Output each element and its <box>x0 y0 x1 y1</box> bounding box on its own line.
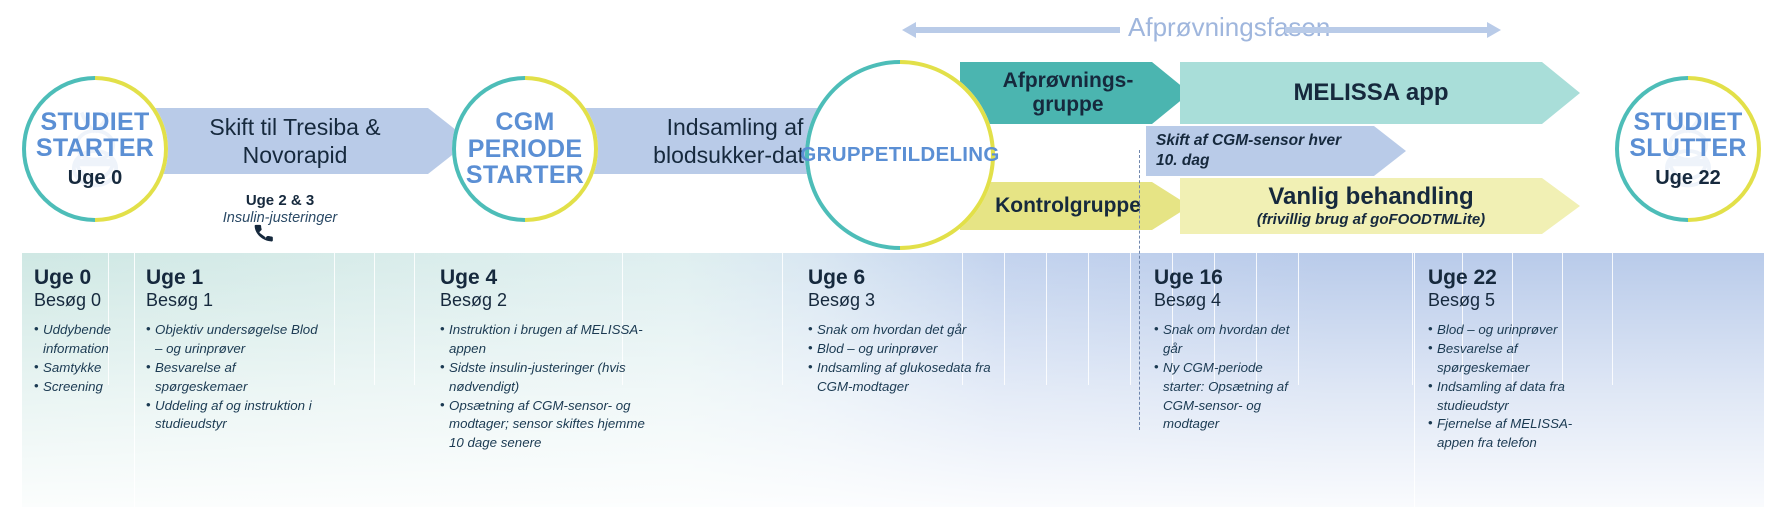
list-item: Screening <box>34 378 124 397</box>
arrow-cgm-sensor-label: Skift af CGM-sensor hver 10. dag <box>1146 131 1346 171</box>
list-item: Snak om hvordan det går <box>808 321 1013 340</box>
timeline-item-list: Blod – og urinprøver Besvarelse af spørg… <box>1428 321 1593 453</box>
timeline-column-uge22: Uge 22 Besøg 5 Blod – og urinprøver Besv… <box>1414 253 1614 507</box>
timeline-column-uge16: Uge 16 Besøg 4 Snak om hvordan det går N… <box>1140 253 1310 507</box>
milestone-gruppetildeling: GRUPPETILDELING <box>805 60 995 250</box>
list-item: Ny CGM-periode starter: Opsætning af CGM… <box>1154 359 1294 435</box>
list-item: Snak om hvordan det går <box>1154 321 1294 359</box>
timeline-item-list: Objektiv undersøgelse Blod – og urinprøv… <box>146 321 326 434</box>
timeline-item-list: Uddybende information Samtykke Screening <box>34 321 124 397</box>
timeline-visit-label: Besøg 2 <box>440 290 648 312</box>
timeline-week-label: Uge 4 <box>440 266 648 290</box>
timeline-tick <box>414 253 415 385</box>
timeline-column-divider <box>134 253 135 507</box>
list-item: Besvarelse af spørgeskemaer <box>1428 340 1593 378</box>
arrow-vanlig-sub: (frivillig brug af goFOODTMLite) <box>1257 211 1485 228</box>
arrow-melissa-label: MELISSA app <box>1293 79 1448 107</box>
list-item: Uddeling af og instruktion i studieudsty… <box>146 397 326 435</box>
milestone-title-line: SLUTTER <box>1629 135 1746 162</box>
list-item: Blod – og urinprøver <box>808 340 1013 359</box>
timeline-column-uge6: Uge 6 Besøg 3 Snak om hvordan det går Bl… <box>784 253 1024 507</box>
list-item: Objektiv undersøgelse Blod – og urinprøv… <box>146 321 326 359</box>
milestone-title-line: GRUPPETILDELING <box>800 144 999 166</box>
timeline-tick <box>1046 253 1047 385</box>
arrow-kontrolgruppe: Kontrolgruppe <box>960 182 1190 230</box>
arrow-afprovningsgruppe-label: Afprøvnings-gruppe <box>978 69 1158 118</box>
list-item: Indsamling af data fra studieudstyr <box>1428 378 1593 416</box>
arrow-skift-label: Skift til Tresiba & Novorapid <box>170 113 420 169</box>
milestone-title: STUDIET SLUTTER <box>1629 109 1746 162</box>
list-item: Instruktion i brugen af MELISSA-appen <box>440 321 655 359</box>
arrow-vanlig-text-group: Vanlig behandling (frivillig brug af goF… <box>1257 184 1485 228</box>
timeline-week-label: Uge 22 <box>1428 266 1606 290</box>
milestone-subtitle: Uge 22 <box>1655 167 1721 190</box>
timeline-tick <box>1130 253 1131 385</box>
timeline-visit-label: Besøg 5 <box>1428 290 1606 312</box>
note-insulin-justeringer: Uge 2 & 3 Insulin-justeringer <box>195 192 365 226</box>
list-item: Uddybende information <box>34 321 124 359</box>
timeline-item-list: Instruktion i brugen af MELISSA-appen Si… <box>440 321 655 453</box>
timeline-week-label: Uge 1 <box>146 266 326 290</box>
milestone-title-line: STARTER <box>36 135 154 162</box>
list-item: Samtykke <box>34 359 124 378</box>
arrow-cgm-sensor-skift: Skift af CGM-sensor hver 10. dag <box>1146 126 1406 176</box>
list-item: Besvarelse af spørgeskemaer <box>146 359 326 397</box>
milestone-title: GRUPPETILDELING <box>800 144 999 166</box>
milestone-title: CGM PERIODE STARTER <box>466 109 584 189</box>
timeline-tick <box>1088 253 1089 385</box>
phase-line-right <box>1285 27 1490 33</box>
timeline-column-uge0: Uge 0 Besøg 0 Uddybende information Samt… <box>22 253 132 507</box>
phone-icon <box>253 222 273 249</box>
list-item: Opsætning af CGM-sensor- og modtager; se… <box>440 397 655 454</box>
timeline-week-label: Uge 6 <box>808 266 1016 290</box>
arrow-melissa-app: MELISSA app <box>1180 62 1580 124</box>
timeline-week-label: Uge 0 <box>34 266 124 290</box>
timeline-column-uge1: Uge 1 Besøg 1 Objektiv undersøgelse Blod… <box>134 253 334 507</box>
timeline-visit-label: Besøg 1 <box>146 290 326 312</box>
milestone-title: STUDIET STARTER <box>36 109 154 162</box>
list-item: Indsamling af glukosedata fra CGM-modtag… <box>808 359 1013 397</box>
note-weeks: Uge 2 & 3 <box>195 192 365 209</box>
study-timeline: Uge 0 Besøg 0 Uddybende information Samt… <box>22 253 1764 507</box>
timeline-tick <box>374 253 375 385</box>
milestone-cgm-periode-starter: CGM PERIODE STARTER <box>452 76 598 222</box>
timeline-tick <box>334 253 335 385</box>
timeline-column-divider <box>1414 253 1415 507</box>
timeline-visit-label: Besøg 3 <box>808 290 1016 312</box>
group-split-divider <box>1139 150 1140 430</box>
list-item: Blod – og urinprøver <box>1428 321 1593 340</box>
milestone-subtitle: Uge 0 <box>68 167 122 190</box>
arrow-vanlig-behandling: Vanlig behandling (frivillig brug af goF… <box>1180 178 1580 234</box>
milestone-title-line: PERIODE <box>466 136 584 163</box>
timeline-item-list: Snak om hvordan det går Blod – og urinpr… <box>808 321 1013 397</box>
phase-line-left <box>915 27 1120 33</box>
timeline-visit-label: Besøg 0 <box>34 290 124 312</box>
milestone-title-line: STUDIET <box>1629 109 1746 136</box>
arrow-kontrolgruppe-label: Kontrolgruppe <box>995 194 1141 218</box>
timeline-item-list: Snak om hvordan det går Ny CGM-periode s… <box>1154 321 1294 434</box>
milestone-title-line: STARTER <box>466 162 584 189</box>
flowchart-canvas: Afprøvningsfasen Skift til Tresiba & Nov… <box>0 0 1785 507</box>
timeline-tick <box>782 253 783 385</box>
phase-arrow-right-icon <box>1487 22 1501 38</box>
timeline-week-label: Uge 16 <box>1154 266 1302 290</box>
phase-arrow-left-icon <box>902 22 916 38</box>
note-text: Insulin-justeringer <box>195 210 365 226</box>
arrow-afprovningsgruppe: Afprøvnings-gruppe <box>960 62 1190 124</box>
milestone-studiet-slutter: STUDIET SLUTTER Uge 22 <box>1615 76 1761 222</box>
timeline-column-uge4: Uge 4 Besøg 2 Instruktion i brugen af ME… <box>416 253 656 507</box>
arrow-skift-til-tresiba: Skift til Tresiba & Novorapid <box>140 108 470 174</box>
milestone-title-line: CGM <box>466 109 584 136</box>
milestone-title-line: STUDIET <box>36 109 154 136</box>
list-item: Fjernelse af MELISSA-appen fra telefon <box>1428 415 1593 453</box>
list-item: Sidste insulin-justeringer (hvis nødvend… <box>440 359 655 397</box>
timeline-tick <box>1412 253 1413 385</box>
timeline-visit-label: Besøg 4 <box>1154 290 1302 312</box>
arrow-vanlig-label: Vanlig behandling <box>1257 184 1485 210</box>
milestone-studiet-starter: STUDIET STARTER Uge 0 <box>22 76 168 222</box>
